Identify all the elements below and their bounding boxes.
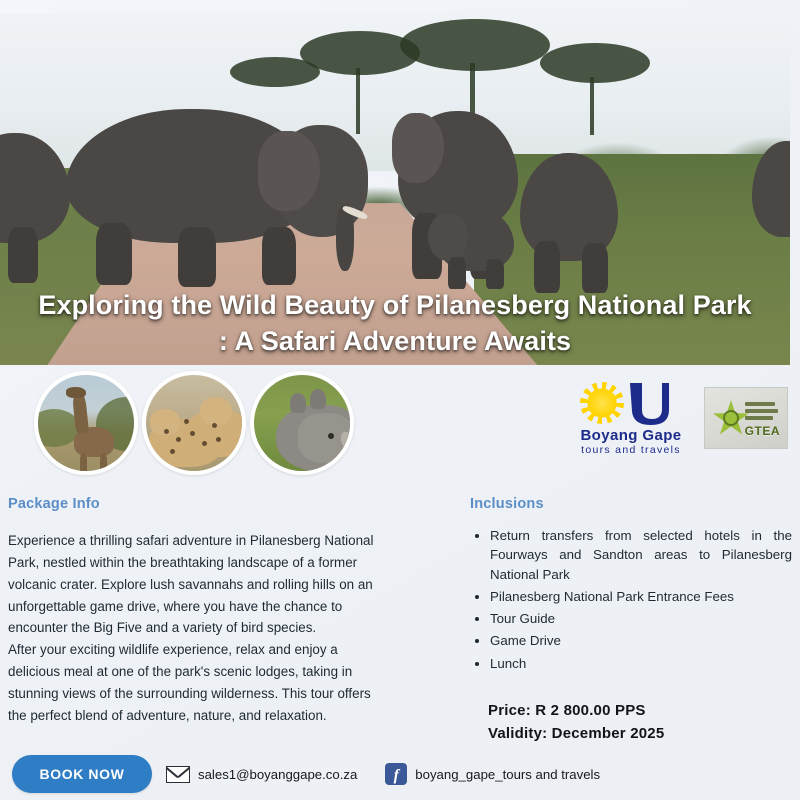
acacia-tree-canopy [230,57,320,87]
cheetah-spot [212,423,217,428]
elephant-leg [178,227,216,287]
cheetah-spot [176,437,181,442]
facebook-contact[interactable]: f boyang_gape_tours and travels [385,763,600,785]
package-info-heading: Package Info [8,496,380,512]
inclusions-list: Return transfers from selected hotels in… [470,526,792,673]
list-item: Game Drive [490,631,792,650]
cheetah-spot [216,437,221,442]
logo-area: Boyang Gape tours and travels GTEA [572,380,788,456]
giraffe-photo [38,375,134,471]
list-item: Return transfers from selected hotels in… [490,526,792,584]
list-item: Lunch [490,654,792,673]
gallery-circle-cheetah[interactable] [142,371,246,475]
brand-name: Boyang Gape [572,428,690,444]
facebook-handle: boyang_gape_tours and travels [415,767,600,782]
package-info-section: Package Info Experience a thrilling safa… [8,496,380,727]
cheetah-spot [190,431,195,436]
elephant-leg [262,227,296,285]
gallery-circle-rhino[interactable] [250,371,354,475]
rhino-ear [310,389,326,409]
validity-text: Validity: December 2025 [488,722,792,745]
rhino-ear [290,393,306,413]
email-contact[interactable]: sales1@boyanggape.co.za [166,766,357,783]
inclusions-heading: Inclusions [470,496,792,512]
cheetah-spot [164,429,169,434]
giraffe-leg [100,453,107,475]
list-item: Tour Guide [490,609,792,628]
elephant-calf-head [428,213,468,261]
envelope-icon [166,766,190,783]
swoosh-icon [624,380,670,426]
gtea-accreditation-logo: GTEA [704,387,788,449]
rhino-photo [254,375,350,471]
pricing-block: Price: R 2 800.00 PPS Validity: December… [470,699,792,746]
acacia-tree-canopy [400,19,550,71]
package-paragraph-2: After your exciting wildlife experience,… [8,639,380,726]
package-paragraph-1: Experience a thrilling safari adventure … [8,530,380,639]
elephant-leg [582,243,608,293]
package-info-body: Experience a thrilling safari adventure … [8,530,380,727]
elephant-leg [534,241,560,293]
list-item: Pilanesberg National Park Entrance Fees [490,587,792,606]
elephant-leg [96,223,132,285]
price-text: Price: R 2 800.00 PPS [488,699,792,722]
cheetah-spot [184,419,189,424]
facebook-icon: f [385,763,407,785]
gallery-circle-giraffe[interactable] [34,371,138,475]
inclusions-section: Inclusions Return transfers from selecte… [470,496,792,745]
acacia-tree-trunk [356,68,360,134]
cheetah-photo [146,375,242,471]
elephant-calf-leg [448,257,466,289]
rhino-eye [328,433,334,439]
book-now-button[interactable]: BOOK NOW [12,755,152,793]
sun-icon [580,382,624,424]
animal-photo-gallery [34,371,374,475]
giraffe-head [66,387,86,398]
elephant-leg [8,227,38,283]
flyer-page: Exploring the Wild Beauty of Pilanesberg… [0,0,800,800]
cheetah-spot [202,441,207,446]
brand-tagline: tours and travels [572,444,690,457]
boyang-gape-logo: Boyang Gape tours and travels [572,380,690,456]
page-title: Exploring the Wild Beauty of Pilanesberg… [0,287,790,359]
cheetah-head-second [200,397,232,425]
footer-bar: BOOK NOW sales1@boyanggape.co.za f boyan… [0,748,800,800]
cheetah-spot [170,449,175,454]
hero-banner: Exploring the Wild Beauty of Pilanesberg… [0,13,790,365]
brand-mark [572,380,690,426]
elephant-calf-leg [486,259,504,289]
email-address: sales1@boyanggape.co.za [198,767,357,782]
gtea-label: GTEA [745,424,780,438]
giraffe-leg [80,453,87,475]
acacia-tree-canopy [540,43,650,83]
